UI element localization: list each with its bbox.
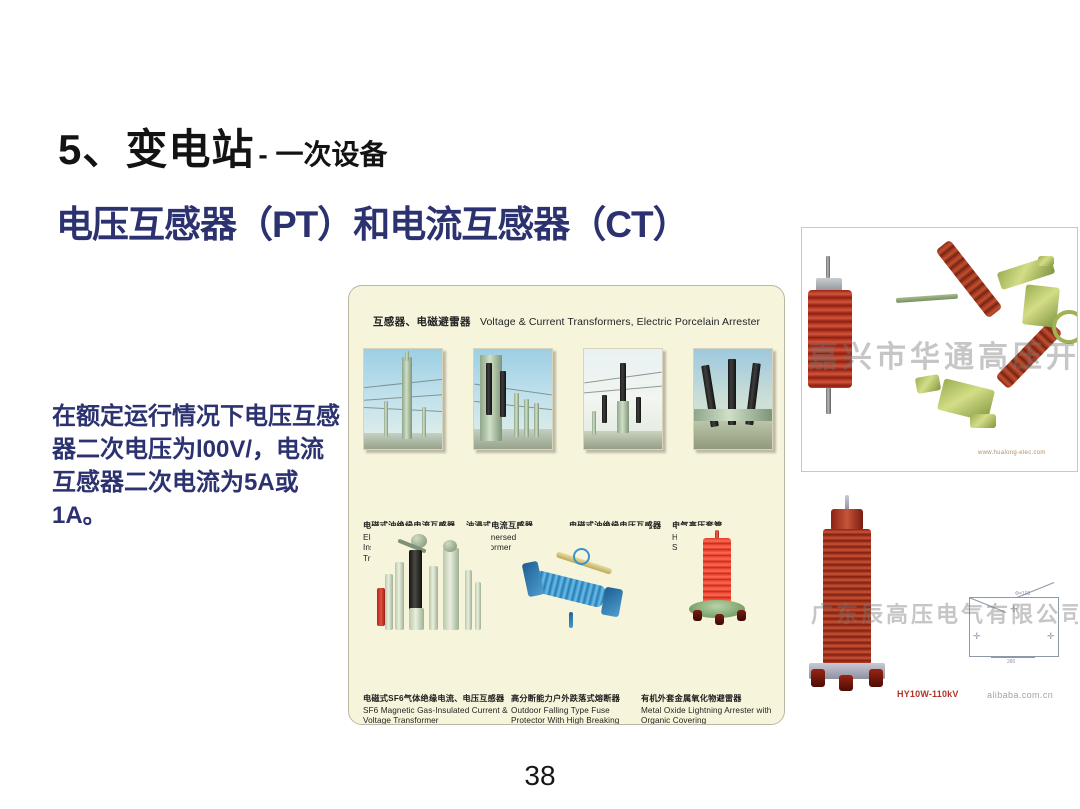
base-foot — [715, 614, 724, 625]
bushing-icon — [620, 363, 626, 403]
caption-cn: 高分断能力户外跌落式熔断器 — [511, 694, 641, 705]
support-leg — [385, 574, 393, 630]
page-title: 5、变电站- 一次设备 — [58, 116, 387, 177]
bushing-icon — [602, 395, 607, 423]
caption-strip-2: 电磁式SF6气体绝缘电流、电压互感器 SF6 Magnetic Gas-Insu… — [363, 694, 775, 725]
caption-cn: 电磁式SF6气体绝缘电流、电压互感器 — [363, 694, 511, 705]
support-post — [524, 399, 529, 437]
body-paragraph: 在额定运行情况下电压互感器二次电压为l00V/，电流互感器二次电流为5A或1A。 — [52, 400, 342, 532]
arrester-stud — [826, 388, 831, 414]
base-foot — [869, 669, 883, 687]
product-thumbnail-2 — [473, 348, 553, 450]
bolt-mark: ✛ — [1010, 605, 1018, 614]
page-number: 38 — [0, 760, 1080, 792]
caption-cn: 有机外套金属氧化物避雷器 — [641, 694, 775, 705]
dimension-label-top: Φ=108 — [1015, 591, 1030, 597]
photo-fuse-cutout: 嘉兴市华通高压开关厂 www.hualong-elec.com — [801, 227, 1078, 472]
support-leg — [395, 562, 404, 630]
catalog-row-1: 电磁式油绝缘电流互感器 Electromagnetic Oil-Insulati… — [349, 348, 784, 548]
photo-arrester-drawing: ✛ ✛ ✛ 280 Φ=108 广东辰高压电气有限公司 HY10W-110kV … — [801, 487, 1078, 727]
product-thumbnail-4 — [693, 348, 773, 450]
site-label: www.hualong-elec.com — [978, 450, 1046, 456]
support-leg — [465, 570, 472, 630]
insulator-column — [409, 550, 422, 612]
support-post — [422, 407, 426, 437]
catalog-card: 互感器、电磁避雷器Voltage & Current Transformers,… — [348, 285, 785, 725]
terminal-lug — [1038, 256, 1054, 266]
base-foot — [839, 675, 853, 691]
base-foot — [811, 669, 825, 687]
dimension-line — [991, 657, 1035, 658]
bushing-icon — [486, 363, 492, 415]
bolt-mark: ✛ — [973, 632, 981, 641]
product-caption-5: 电磁式SF6气体绝缘电流、电压互感器 SF6 Magnetic Gas-Insu… — [363, 694, 511, 725]
transformer-column — [617, 401, 629, 433]
base-foot — [693, 610, 702, 621]
product-thumbnail-3 — [583, 348, 663, 450]
bushing-icon — [500, 371, 506, 417]
operating-lever — [896, 294, 958, 303]
product-thumbnail-5 — [371, 526, 491, 638]
caption-en: SF6 Magnetic Gas-Insulated Current & Vol… — [363, 706, 511, 726]
catalog-row-2: 电磁式SF6气体绝缘电流、电压互感器 SF6 Magnetic Gas-Insu… — [349, 526, 784, 721]
product-caption-7: 有机外套金属氧化物避雷器 Metal Oxide Lightning Arres… — [641, 694, 775, 725]
product-thumbnail-7 — [677, 526, 769, 638]
thumbnail-strip-1 — [363, 348, 773, 450]
transformer-top — [405, 351, 409, 361]
product-thumbnail-6 — [519, 526, 649, 638]
red-indicator — [377, 588, 385, 626]
terminal-lug — [915, 374, 941, 394]
bushing-icon — [636, 397, 641, 423]
product-caption-6: 高分断能力户外跌落式熔断器 Outdoor Falling Type Fuse … — [511, 694, 641, 725]
transformer-column — [402, 357, 412, 439]
catalog-header: 互感器、电磁避雷器Voltage & Current Transformers,… — [349, 314, 784, 329]
arrester-cap — [831, 509, 863, 531]
support-leg — [429, 566, 438, 630]
pin — [569, 612, 573, 628]
arrester-stud — [826, 256, 830, 278]
dimension-label-bottom: 280 — [1007, 659, 1015, 665]
base-block — [970, 414, 996, 428]
base-block — [409, 608, 424, 630]
page-subtitle: 电压互感器（PT）和电流互感器（CT） — [56, 194, 689, 248]
base-foot — [737, 610, 746, 621]
caption-en: Metal Oxide Lightning Arrester with Orga… — [641, 706, 775, 726]
small-arrester-body — [808, 290, 852, 388]
page-title-sub: - 一次设备 — [258, 139, 387, 170]
support-post — [514, 393, 519, 437]
page-title-main: 5、变电站 — [58, 126, 254, 173]
transformer-body — [443, 548, 459, 630]
catalog-header-en: Voltage & Current Transformers, Electric… — [480, 316, 760, 328]
catalog-header-cn: 互感器、电磁避雷器 — [373, 316, 471, 328]
tank-body — [694, 409, 772, 421]
bolt-mark: ✛ — [1047, 632, 1055, 641]
support-post — [384, 401, 388, 437]
caption-en: Outdoor Falling Type Fuse Protector With… — [511, 706, 641, 726]
pull-ring-icon — [573, 548, 590, 565]
sf6-top-cap — [443, 540, 457, 552]
support-post — [592, 411, 596, 435]
arrester-body — [703, 538, 731, 604]
site-label: alibaba.com.cn — [987, 690, 1053, 700]
model-label: HY10W-110kV — [897, 689, 959, 699]
pull-ring-icon — [1052, 310, 1078, 344]
tall-arrester-body — [823, 529, 871, 665]
support-post — [534, 403, 539, 437]
upper-insulator — [935, 240, 1002, 319]
thumbnail-strip-2 — [371, 526, 769, 638]
support-leg — [475, 582, 481, 630]
product-thumbnail-1 — [363, 348, 443, 450]
